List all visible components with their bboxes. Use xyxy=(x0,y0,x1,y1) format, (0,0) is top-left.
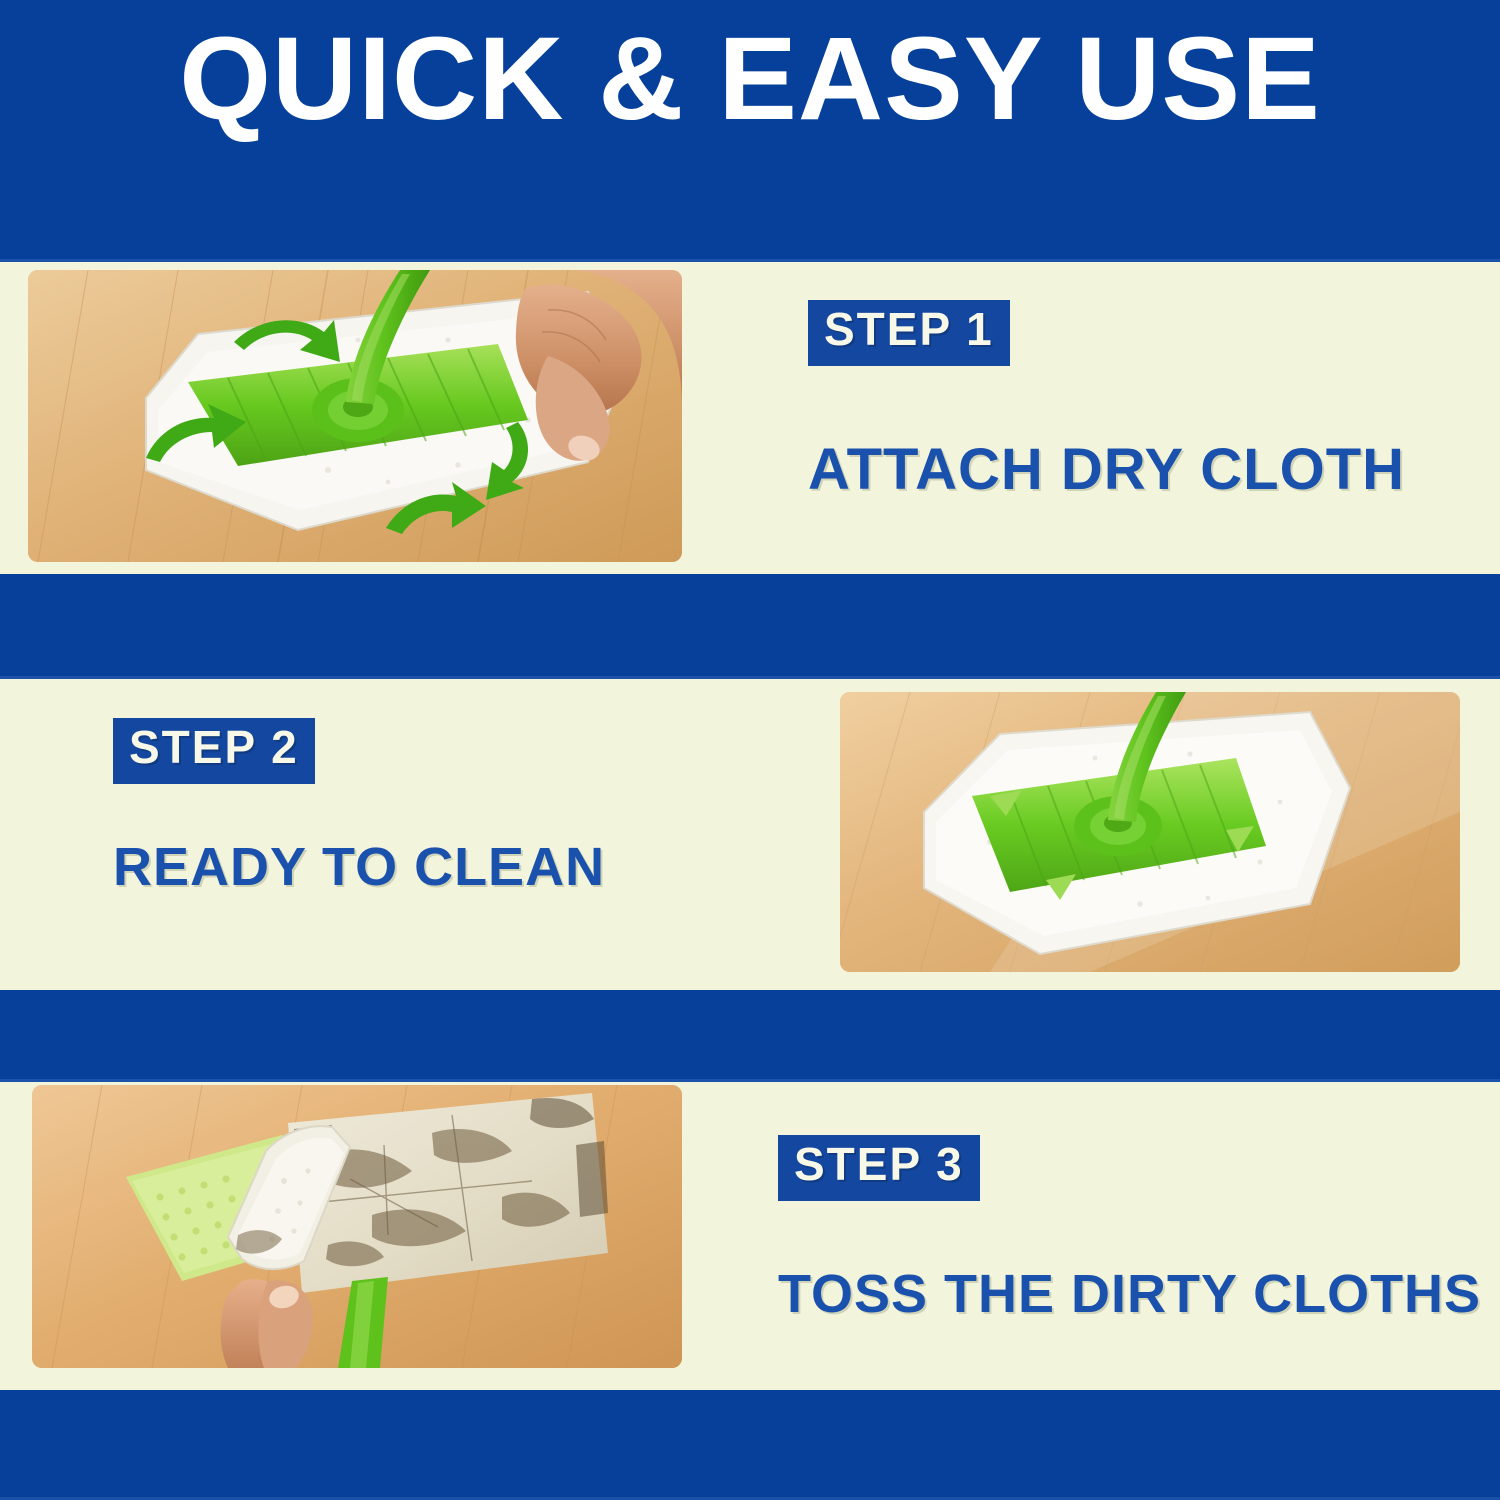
step-2-text-block: STEP 2 READY TO CLEAN xyxy=(113,718,605,898)
step-1-text-block: STEP 1 ATTACH DRY CLOTH xyxy=(808,300,1405,503)
step-2-badge: STEP 2 xyxy=(113,718,315,784)
bottom-blue-band xyxy=(0,1390,1500,1500)
step-1-badge: STEP 1 xyxy=(808,300,1010,366)
step-3-caption: TOSS THE DIRTY CLOTHS xyxy=(778,1263,1481,1325)
step-2-illustration xyxy=(840,692,1460,972)
step-2-photo xyxy=(840,692,1460,972)
step-3-photo xyxy=(32,1085,682,1368)
step-3-badge: STEP 3 xyxy=(778,1135,980,1201)
step-3-illustration xyxy=(32,1085,682,1368)
product-infographic-poster: QUICK & EASY USE xyxy=(0,0,1500,1500)
step-1-illustration xyxy=(28,270,682,562)
step-1-caption: ATTACH DRY CLOTH xyxy=(808,436,1405,503)
step-1-photo xyxy=(28,270,682,562)
divider-blue-band-1 xyxy=(0,574,1500,679)
divider-blue-band-2 xyxy=(0,990,1500,1082)
step-2-caption: READY TO CLEAN xyxy=(113,836,605,898)
page-title: QUICK & EASY USE xyxy=(0,18,1500,142)
step-3-text-block: STEP 3 TOSS THE DIRTY CLOTHS xyxy=(778,1135,1481,1325)
